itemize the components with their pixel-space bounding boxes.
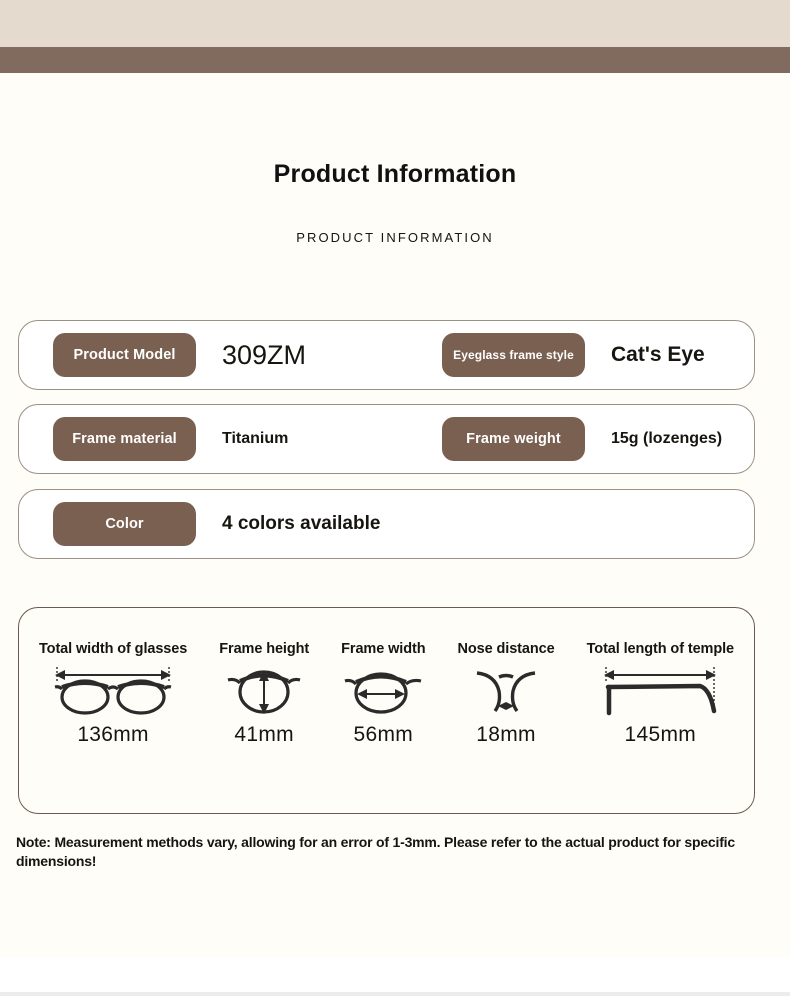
spec-label-pill: Product Model [53,333,196,377]
spec-row: Product Model 309ZM Eyeglass frame style… [18,320,755,390]
measurement-label: Total length of temple [587,641,734,657]
spec-value: Titanium [222,430,288,448]
nose-bridge-icon [473,663,539,719]
spec-cell-color: Color 4 colors available [53,490,380,558]
spec-label-pill: Eyeglass frame style [442,333,585,377]
measurement-value: 136mm [77,723,149,747]
temple-arm-icon [600,663,720,719]
measurement-item: Frame height 41mm [219,641,309,747]
page-title: Product Information [0,160,790,189]
measurements-grid: Total width of glasses [19,608,754,813]
measurement-value: 56mm [354,723,414,747]
product-information-page: Product Information PRODUCT INFORMATION … [0,0,790,996]
spec-value: 309ZM [222,340,306,371]
measurement-item: Total length of temple 145mm [587,641,734,747]
spec-cell-frame-style: Eyeglass frame style Cat's Eye [442,321,705,389]
bottom-white-strip [0,957,790,992]
measurements-card: Total width of glasses [18,607,755,814]
top-brown-band [0,47,790,73]
spec-cell-frame-material: Frame material Titanium [53,405,288,473]
spec-cell-frame-weight: Frame weight 15g (lozenges) [442,405,722,473]
lens-height-icon [227,663,301,719]
glasses-front-width-icon [51,663,175,719]
measurement-label: Frame height [219,641,309,657]
page-subtitle: PRODUCT INFORMATION [0,230,790,245]
spec-value: 4 colors available [222,513,380,535]
spec-row: Color 4 colors available [18,489,755,559]
spec-label-pill: Frame material [53,417,196,461]
measurement-item: Total width of glasses [39,641,187,747]
spec-value: 15g (lozenges) [611,430,722,448]
measurement-value: 145mm [625,723,697,747]
spec-value: Cat's Eye [611,343,705,367]
spec-cell-product-model: Product Model 309ZM [53,321,306,389]
measurement-value: 41mm [234,723,294,747]
lens-width-icon [344,663,422,719]
measurement-label: Nose distance [458,641,555,657]
top-beige-band [0,0,790,47]
spec-label-pill: Frame weight [442,417,585,461]
measurement-label: Total width of glasses [39,641,187,657]
measurement-item: Frame width 56mm [341,641,425,747]
measurement-value: 18mm [476,723,536,747]
measurement-item: Nose distance 18mm [458,641,555,747]
measurement-note: Note: Measurement methods vary, allowing… [16,833,776,870]
spec-row: Frame material Titanium Frame weight 15g… [18,404,755,474]
measurement-label: Frame width [341,641,425,657]
bottom-gray-strip [0,992,790,996]
spec-label-pill: Color [53,502,196,546]
